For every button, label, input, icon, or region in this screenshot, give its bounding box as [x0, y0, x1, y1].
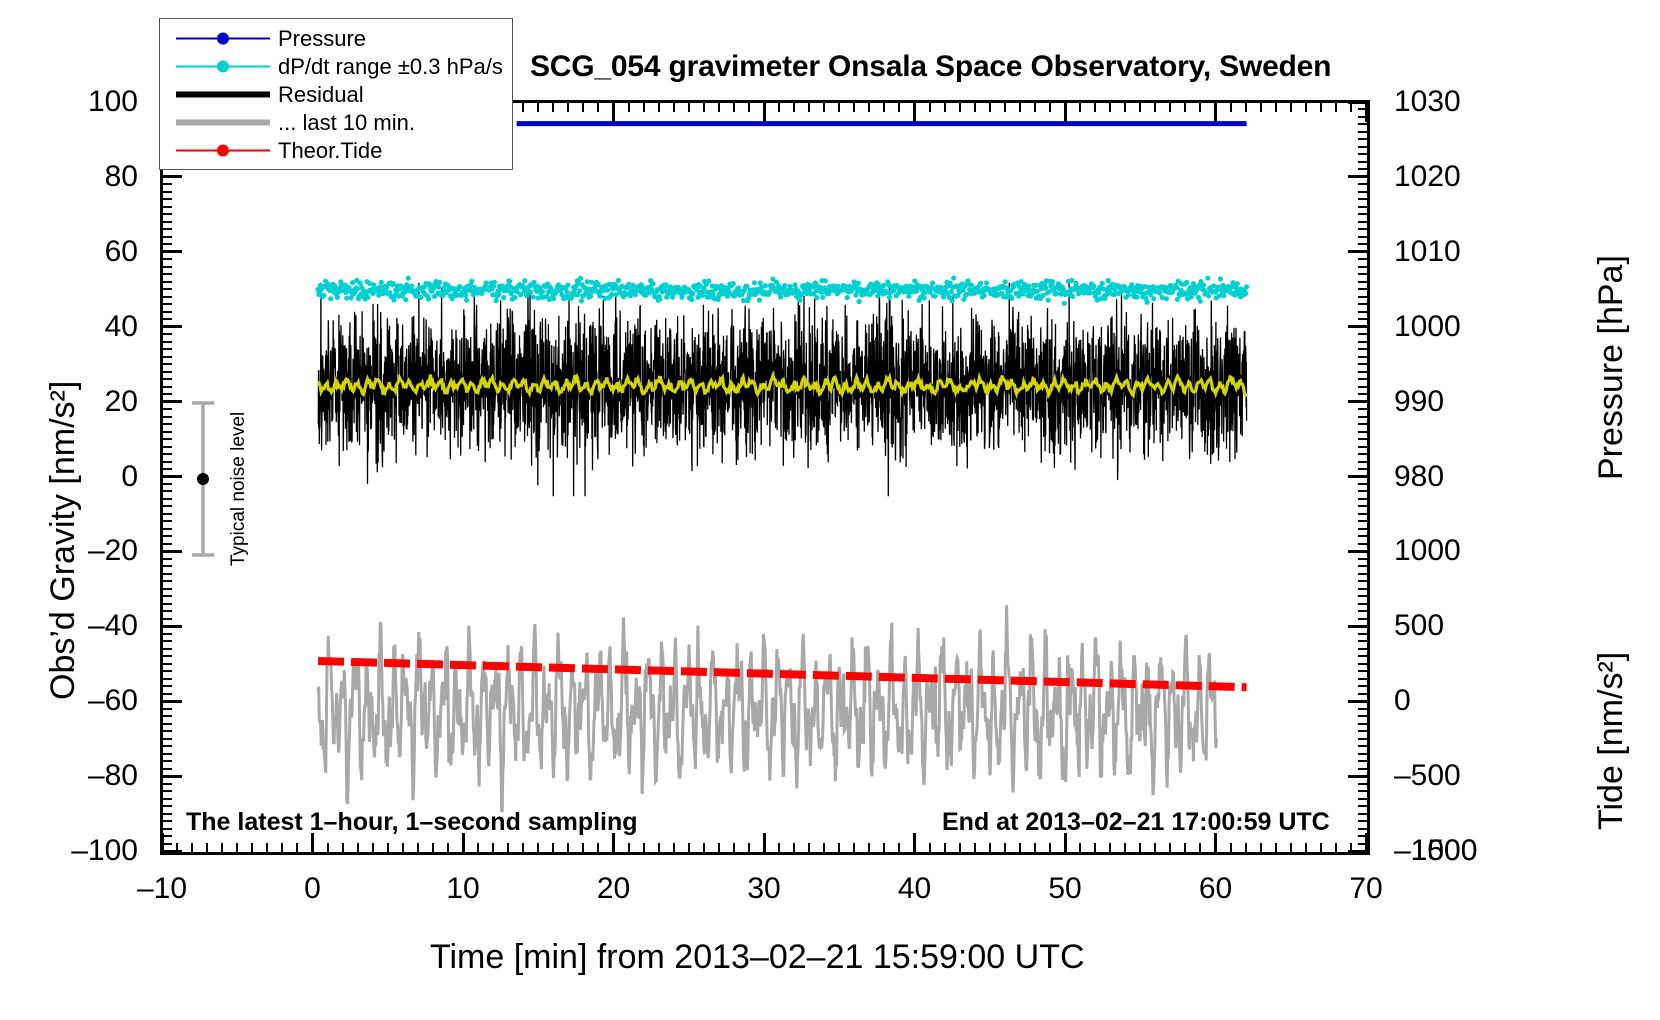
tick-mark	[1358, 213, 1368, 215]
series-dpdt-point	[579, 298, 584, 303]
series-dpdt-point	[1206, 293, 1211, 298]
tick-mark	[1358, 386, 1368, 388]
series-dpdt-point	[512, 295, 517, 300]
series-dpdt-point	[577, 288, 582, 293]
ytick-left-9: –80	[88, 759, 138, 793]
tick-mark	[162, 250, 182, 253]
tick-mark	[1230, 102, 1232, 112]
series-dpdt-point	[335, 295, 340, 300]
tick-mark	[1350, 102, 1352, 112]
tick-mark	[1214, 833, 1217, 853]
tick-mark	[1358, 146, 1368, 148]
series-dpdt-point	[969, 282, 974, 287]
tick-mark	[673, 102, 675, 112]
series-dpdt-point	[823, 278, 828, 283]
tick-mark	[1358, 618, 1368, 620]
tick-mark	[162, 760, 172, 762]
tick-mark	[1358, 123, 1368, 125]
ytick-right-tide-2: 0	[1394, 684, 1411, 718]
tick-mark	[162, 408, 172, 410]
series-dpdt-point	[528, 289, 533, 294]
series-dpdt-point	[426, 296, 431, 301]
tick-mark	[763, 102, 766, 122]
series-dpdt-point	[1151, 296, 1156, 301]
series-dpdt-point	[1235, 281, 1240, 286]
tick-mark	[162, 266, 172, 268]
tick-mark	[1358, 640, 1368, 642]
chart-page: SCG_054 gravimeter Onsala Space Observat…	[0, 0, 1660, 1020]
series-dpdt-point	[463, 293, 468, 298]
tick-mark	[1064, 102, 1067, 122]
tick-mark	[1260, 843, 1262, 853]
tick-mark	[1358, 296, 1368, 298]
ytick-right-pressure-5: 980	[1394, 460, 1444, 494]
series-dpdt-point	[1100, 281, 1105, 286]
series-dpdt-point	[365, 295, 370, 300]
tick-mark	[162, 655, 172, 657]
tick-mark	[1358, 685, 1368, 687]
series-dpdt-point	[984, 280, 989, 285]
tick-mark	[162, 438, 172, 440]
tick-mark	[1358, 828, 1368, 830]
tick-mark	[1358, 333, 1368, 335]
tick-mark	[251, 843, 253, 853]
tick-mark	[1358, 610, 1368, 612]
tick-mark	[1358, 535, 1368, 537]
series-dpdt-point	[588, 294, 593, 299]
tick-mark	[1358, 206, 1368, 208]
ytick-right-tide-5: –1500	[1394, 834, 1477, 868]
tick-mark	[162, 393, 172, 395]
tick-mark	[1124, 102, 1126, 112]
tick-mark	[1358, 168, 1368, 170]
tick-mark	[162, 273, 172, 275]
tick-mark	[793, 102, 795, 112]
xtick-8: 70	[1349, 872, 1382, 906]
series-dpdt-point	[1126, 292, 1131, 297]
series-dpdt-point	[1046, 298, 1051, 303]
ytick-left-3: 40	[105, 310, 138, 344]
tick-mark	[1358, 603, 1368, 605]
tick-mark	[823, 843, 825, 853]
tick-mark	[507, 843, 509, 853]
tick-mark	[853, 102, 855, 112]
tick-mark	[688, 843, 690, 853]
tick-mark	[1358, 573, 1368, 575]
tick-mark	[162, 356, 172, 358]
tick-mark	[162, 693, 172, 695]
tick-mark	[162, 835, 172, 837]
legend-item-dpdt[interactable]: dP/dt range ±0.3 hPa/s	[160, 53, 512, 80]
series-dpdt-point	[1070, 294, 1075, 299]
tick-mark	[1260, 102, 1262, 112]
tick-mark	[597, 102, 599, 112]
series-dpdt-point	[540, 289, 545, 294]
series-dpdt-point	[1050, 279, 1055, 284]
page-title: SCG_054 gravimeter Onsala Space Observat…	[530, 50, 1331, 84]
series-dpdt-point	[409, 284, 414, 289]
series-dpdt-point	[1218, 276, 1223, 281]
tick-mark	[1358, 805, 1368, 807]
tick-mark	[883, 102, 885, 112]
series-dpdt-point	[379, 280, 384, 285]
tick-mark	[1358, 446, 1368, 448]
series-dpdt-point	[651, 281, 656, 286]
series-dpdt-point	[657, 297, 662, 302]
tick-mark	[868, 102, 870, 112]
tick-mark	[1358, 693, 1368, 695]
series-dpdt-point	[437, 280, 442, 285]
xtick-1: 0	[304, 872, 321, 906]
tick-mark	[447, 843, 449, 853]
legend-item-last10min[interactable]: ... last 10 min.	[160, 109, 512, 136]
tick-mark	[944, 843, 946, 853]
series-dpdt-point	[856, 281, 861, 286]
tick-mark	[1245, 102, 1247, 112]
tick-mark	[1358, 558, 1368, 560]
tick-mark	[1079, 843, 1081, 853]
tick-mark	[1358, 678, 1368, 680]
tick-mark	[838, 843, 840, 853]
tick-mark	[1358, 393, 1368, 395]
series-dpdt-point	[941, 294, 946, 299]
tick-mark	[372, 843, 374, 853]
tick-mark	[162, 198, 172, 200]
tick-mark	[162, 595, 172, 597]
tick-mark	[703, 102, 705, 112]
tick-mark	[1169, 102, 1171, 112]
series-dpdt-point	[469, 279, 474, 284]
tick-mark	[1358, 198, 1368, 200]
legend-swatch-dpdt	[174, 53, 272, 80]
tick-mark	[1358, 783, 1368, 785]
tick-mark	[281, 843, 283, 853]
tick-mark	[162, 431, 172, 433]
tick-mark	[162, 498, 172, 500]
tick-mark	[162, 648, 172, 650]
tick-mark	[162, 558, 172, 560]
series-dpdt-point	[1243, 291, 1248, 296]
tick-mark	[162, 206, 172, 208]
tick-mark	[1358, 423, 1368, 425]
tick-mark	[1154, 843, 1156, 853]
tick-mark	[748, 843, 750, 853]
series-dpdt-point	[496, 292, 501, 297]
tick-mark	[1358, 356, 1368, 358]
tick-mark	[162, 603, 172, 605]
tick-mark	[162, 700, 182, 703]
legend-label-pressure: Pressure	[278, 25, 366, 52]
series-dpdt-point	[1157, 290, 1162, 295]
tick-mark	[913, 102, 916, 122]
ytick-right-pressure-2: 1010	[1394, 235, 1461, 269]
series-dpdt-point	[797, 298, 802, 303]
tick-mark	[1358, 595, 1368, 597]
tick-mark	[1358, 461, 1368, 463]
tick-mark	[162, 565, 172, 567]
tick-mark	[1358, 483, 1368, 485]
tick-mark	[1358, 745, 1368, 747]
tick-mark	[1358, 236, 1368, 238]
series-dpdt-point	[906, 294, 911, 299]
tick-mark	[1064, 833, 1067, 853]
tick-mark	[1348, 700, 1368, 703]
tick-mark	[778, 102, 780, 112]
tick-mark	[162, 363, 172, 365]
tick-mark	[1358, 498, 1368, 500]
tick-mark	[1275, 102, 1277, 112]
tick-mark	[162, 820, 172, 822]
tick-mark	[643, 843, 645, 853]
tick-mark	[1358, 438, 1368, 440]
tick-mark	[748, 102, 750, 112]
ytick-left-8: –60	[88, 684, 138, 718]
series-dpdt-point	[403, 297, 408, 302]
ytick-left-2: 60	[105, 235, 138, 269]
legend-label-dpdt: dP/dt range ±0.3 hPa/s	[278, 53, 503, 80]
x-axis-label: Time [min] from 2013–02–21 15:59:00 UTC	[430, 938, 1085, 977]
series-dpdt-point	[565, 283, 570, 288]
tick-mark	[162, 528, 172, 530]
tick-mark	[1358, 468, 1368, 470]
tick-mark	[1358, 221, 1368, 223]
tick-mark	[162, 258, 172, 260]
tick-mark	[162, 386, 172, 388]
series-dpdt-point	[933, 294, 938, 299]
tick-mark	[162, 730, 172, 732]
tick-mark	[718, 843, 720, 853]
tick-mark	[1358, 760, 1368, 762]
tick-mark	[161, 833, 164, 853]
tick-mark	[673, 843, 675, 853]
tick-mark	[162, 371, 172, 373]
tick-mark	[612, 102, 615, 122]
tick-mark	[1139, 102, 1141, 112]
tick-mark	[1358, 528, 1368, 530]
tick-mark	[1358, 453, 1368, 455]
series-dpdt-point	[930, 281, 935, 286]
series-dpdt-point	[782, 283, 787, 288]
tick-mark	[1199, 843, 1201, 853]
tick-mark	[1358, 363, 1368, 365]
y-axis-left-label: Obs’d Gravity [nm/s²]	[44, 381, 83, 700]
tick-mark	[763, 833, 766, 853]
tick-mark	[1358, 813, 1368, 815]
series-dpdt-point	[922, 295, 927, 300]
tick-mark	[1169, 843, 1171, 853]
tick-mark	[1320, 843, 1322, 853]
tick-mark	[1358, 138, 1368, 140]
tick-mark	[1358, 708, 1368, 710]
tick-mark	[162, 618, 172, 620]
tick-mark	[582, 843, 584, 853]
series-dpdt-point	[1009, 296, 1014, 301]
tick-mark	[1184, 102, 1186, 112]
legend-item-theortide[interactable]: Theor.Tide	[160, 137, 512, 164]
tick-mark	[929, 843, 931, 853]
tick-mark	[162, 775, 182, 778]
tick-mark	[162, 423, 172, 425]
y-axis-right-tide-label: Tide [nm/s²]	[1592, 652, 1631, 830]
tick-mark	[162, 520, 172, 522]
tick-mark	[387, 843, 389, 853]
tick-mark	[162, 580, 172, 582]
sampling-note: The latest 1–hour, 1–second sampling	[186, 808, 638, 837]
legend-swatch-residual	[174, 81, 272, 108]
tick-mark	[1358, 378, 1368, 380]
series-dpdt-point	[1062, 301, 1067, 306]
tick-mark	[1358, 730, 1368, 732]
tick-mark	[162, 738, 172, 740]
series-dpdt-point	[1091, 284, 1096, 289]
tick-mark	[162, 753, 172, 755]
series-dpdt-point	[731, 281, 736, 286]
tick-mark	[522, 843, 524, 853]
tick-mark	[1348, 250, 1368, 253]
ytick-left-5: 0	[121, 460, 138, 494]
tick-mark	[162, 745, 172, 747]
series-dpdt-point	[778, 294, 783, 299]
tick-mark	[162, 378, 172, 380]
legend-swatch-last10min	[174, 109, 272, 136]
y-axis-right-pressure-label: Pressure [hPa]	[1592, 255, 1631, 480]
series-dpdt-point	[690, 291, 695, 296]
tick-mark	[628, 102, 630, 112]
tick-mark	[162, 513, 172, 515]
tick-mark	[883, 843, 885, 853]
series-dpdt-point	[616, 278, 621, 283]
tick-mark	[1358, 318, 1368, 320]
tick-mark	[1358, 738, 1368, 740]
series-dpdt-point	[605, 288, 610, 293]
tick-mark	[1348, 775, 1368, 778]
series-dpdt-point	[406, 276, 411, 281]
tick-mark	[1358, 648, 1368, 650]
tick-mark	[327, 843, 329, 853]
tick-mark	[1358, 273, 1368, 275]
series-dpdt-point	[1201, 283, 1206, 288]
tick-mark	[522, 102, 524, 112]
series-last10min	[318, 605, 1217, 811]
tick-mark	[582, 102, 584, 112]
series-dpdt-point	[951, 275, 956, 280]
tick-mark	[162, 303, 172, 305]
tick-mark	[1348, 625, 1368, 628]
tick-mark	[162, 490, 172, 492]
tick-mark	[733, 843, 735, 853]
tick-mark	[1004, 102, 1006, 112]
tick-mark	[1034, 843, 1036, 853]
tick-mark	[1358, 715, 1368, 717]
tick-mark	[162, 843, 172, 845]
tick-mark	[162, 236, 172, 238]
tick-mark	[1358, 131, 1368, 133]
tick-mark	[311, 833, 314, 853]
legend-label-theortide: Theor.Tide	[278, 137, 382, 164]
tick-mark	[162, 416, 172, 418]
tick-mark	[162, 715, 172, 717]
series-dpdt-point	[1198, 299, 1203, 304]
tick-mark	[162, 175, 182, 178]
ytick-right-pressure-3: 1000	[1394, 310, 1461, 344]
tick-mark	[1358, 723, 1368, 725]
tick-mark	[162, 400, 182, 403]
tick-mark	[1358, 311, 1368, 313]
series-dpdt-point	[597, 294, 602, 299]
tick-mark	[162, 573, 172, 575]
tick-mark	[1094, 102, 1096, 112]
legend-item-residual[interactable]: Residual	[160, 81, 512, 108]
series-dpdt-point	[1003, 279, 1008, 284]
tick-mark	[162, 708, 172, 710]
tick-mark	[432, 843, 434, 853]
tick-mark	[1358, 416, 1368, 418]
tick-mark	[778, 843, 780, 853]
tick-mark	[1358, 768, 1368, 770]
tick-mark	[162, 685, 172, 687]
tick-mark	[1019, 843, 1021, 853]
tick-mark	[959, 843, 961, 853]
tick-mark	[1358, 670, 1368, 672]
series-dpdt-point	[1244, 284, 1249, 289]
tick-mark	[236, 843, 238, 853]
tick-mark	[1320, 102, 1322, 112]
tick-mark	[162, 191, 172, 193]
tick-mark	[477, 843, 479, 853]
tick-mark	[162, 640, 172, 642]
tick-mark	[492, 843, 494, 853]
tick-mark	[1365, 833, 1368, 853]
tick-mark	[162, 468, 172, 470]
tick-mark	[162, 813, 172, 815]
series-dpdt-point	[857, 299, 862, 304]
tick-mark	[628, 843, 630, 853]
legend-item-pressure[interactable]: Pressure	[160, 25, 512, 52]
ytick-left-1: 80	[105, 160, 138, 194]
series-dpdt-point	[507, 279, 512, 284]
tick-mark	[959, 102, 961, 112]
tick-mark	[162, 783, 172, 785]
tick-mark	[1358, 505, 1368, 507]
tick-mark	[162, 625, 182, 628]
series-dpdt-point	[1205, 276, 1210, 281]
legend-label-residual: Residual	[278, 81, 364, 108]
tick-mark	[162, 588, 172, 590]
series-dpdt-point	[752, 280, 757, 285]
series-dpdt-point	[689, 297, 694, 302]
tick-mark	[567, 102, 569, 112]
tick-mark	[1358, 258, 1368, 260]
tick-mark	[989, 102, 991, 112]
tick-mark	[1358, 431, 1368, 433]
tick-mark	[1358, 633, 1368, 635]
tick-mark	[1358, 228, 1368, 230]
tick-mark	[1305, 843, 1307, 853]
tick-mark	[162, 446, 172, 448]
series-dpdt-point	[328, 296, 333, 301]
series-dpdt-point	[321, 293, 326, 298]
tick-mark	[1034, 102, 1036, 112]
tick-mark	[162, 723, 172, 725]
tick-mark	[266, 843, 268, 853]
series-dpdt-point	[436, 285, 441, 290]
series-dpdt-point	[757, 298, 762, 303]
tick-mark	[1358, 243, 1368, 245]
tick-mark	[1275, 843, 1277, 853]
series-dpdt-point	[1026, 284, 1031, 289]
ytick-right-tide-1: 500	[1394, 609, 1444, 643]
tick-mark	[162, 311, 172, 313]
